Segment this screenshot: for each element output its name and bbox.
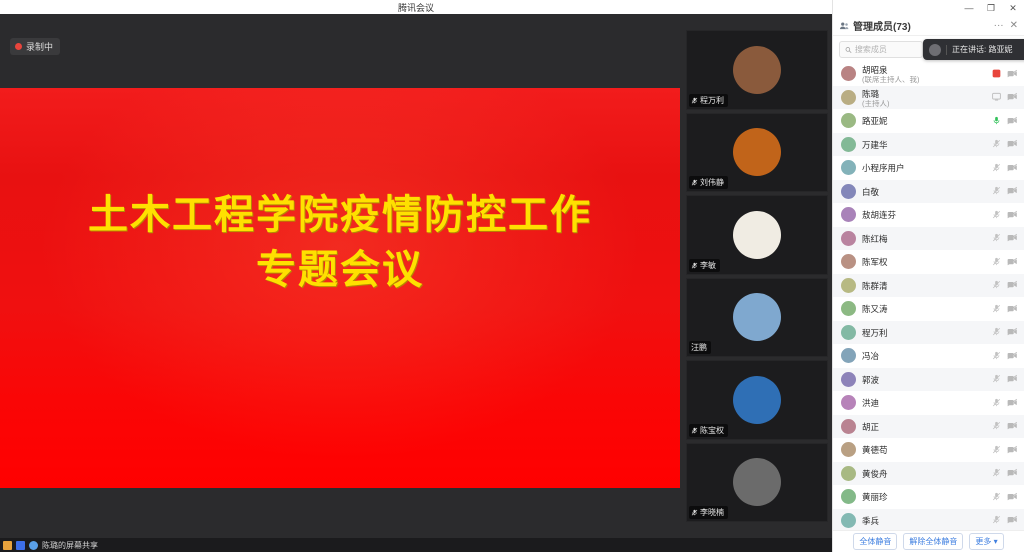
avatar bbox=[841, 137, 856, 152]
camera-off-icon[interactable] bbox=[1007, 69, 1018, 78]
mic-off-icon[interactable] bbox=[691, 178, 698, 187]
member-status-icons bbox=[992, 114, 1018, 128]
member-name: 陈群清 bbox=[862, 281, 888, 291]
camera-status-icon[interactable] bbox=[1007, 466, 1018, 480]
mic-status-icon[interactable] bbox=[992, 513, 1001, 527]
mic-status-icon[interactable] bbox=[992, 490, 1001, 504]
member-status-icons bbox=[992, 466, 1018, 480]
camera-off-icon[interactable] bbox=[1007, 139, 1018, 148]
taskbar-share-icon[interactable] bbox=[29, 541, 38, 550]
members-panel-actions: ··· ✕ bbox=[994, 20, 1018, 31]
member-name: 陈璐 bbox=[862, 89, 879, 99]
member-list-item[interactable]: 陈军权 bbox=[833, 250, 1024, 274]
mic-off-icon bbox=[691, 261, 698, 270]
members-panel: — ❐ ✕ 管理成员(73) ··· ✕ bbox=[832, 0, 1024, 552]
avatar bbox=[841, 348, 856, 363]
member-status-icons bbox=[992, 67, 1018, 81]
camera-status-icon[interactable] bbox=[1007, 325, 1018, 339]
member-list-item[interactable]: 万建华 bbox=[833, 133, 1024, 157]
participant-thumbnail-strip[interactable]: 程万利刘伟静李敏汪鹏陈宝权李晓楠 bbox=[686, 30, 828, 522]
camera-off-icon[interactable] bbox=[1007, 257, 1018, 266]
maximize-button[interactable]: ❐ bbox=[980, 0, 1002, 16]
meeting-window: 腾讯会议 录制中 土木工程学院疫情防控工作 专题会议 2022年9月13日 程万… bbox=[0, 0, 1024, 552]
avatar bbox=[841, 466, 856, 481]
member-info: 冯冶 bbox=[862, 349, 986, 362]
mic-off-icon[interactable] bbox=[992, 186, 1001, 195]
camera-off-icon[interactable] bbox=[1007, 468, 1018, 477]
member-info: 陈璐(主持人) bbox=[862, 87, 986, 108]
avatar bbox=[841, 160, 856, 175]
camera-status-icon[interactable] bbox=[1007, 396, 1018, 410]
thumbnail-name-badge: 程万利 bbox=[689, 94, 728, 107]
speaker-avatar bbox=[929, 44, 941, 56]
member-status-icons bbox=[992, 419, 1018, 433]
speaking-indicator: 正在讲话: 路亚妮 bbox=[923, 39, 1024, 60]
member-list-item[interactable]: 小程序用户 bbox=[833, 156, 1024, 180]
member-list-item[interactable]: 程万利 bbox=[833, 321, 1024, 345]
camera-status-icon[interactable] bbox=[1007, 490, 1018, 504]
mic-off-icon[interactable] bbox=[691, 426, 698, 435]
more-options-icon[interactable]: ··· bbox=[994, 20, 1004, 31]
avatar bbox=[841, 442, 856, 457]
mic-status-icon[interactable] bbox=[992, 90, 1001, 104]
mic-off-icon[interactable] bbox=[691, 96, 698, 105]
avatar bbox=[841, 395, 856, 410]
participant-thumbnail[interactable]: 李晓楠 bbox=[686, 443, 828, 523]
mic-off-icon[interactable] bbox=[992, 468, 1001, 477]
mic-off-icon[interactable] bbox=[992, 515, 1001, 524]
avatar bbox=[841, 113, 856, 128]
member-info: 洪迪 bbox=[862, 396, 986, 409]
member-status-icons bbox=[992, 349, 1018, 363]
member-status-icons bbox=[992, 325, 1018, 339]
camera-status-icon[interactable] bbox=[1007, 443, 1018, 457]
member-status-icons bbox=[992, 90, 1018, 104]
avatar bbox=[841, 231, 856, 246]
search-input[interactable] bbox=[855, 45, 917, 54]
participant-thumbnail[interactable]: 陈宝权 bbox=[686, 360, 828, 440]
member-name: 路亚妮 bbox=[862, 116, 888, 126]
mic-status-icon[interactable] bbox=[992, 184, 1001, 198]
member-status-icons bbox=[992, 161, 1018, 175]
avatar bbox=[841, 325, 856, 340]
taskbar-window-icon[interactable] bbox=[16, 541, 25, 550]
member-name: 万建华 bbox=[862, 140, 888, 150]
member-name: 白敬 bbox=[862, 187, 879, 197]
mic-off-icon[interactable] bbox=[992, 421, 1001, 430]
camera-status-icon[interactable] bbox=[1007, 114, 1018, 128]
participant-thumbnail[interactable]: 李敏 bbox=[686, 195, 828, 275]
avatar bbox=[841, 90, 856, 105]
mic-status-icon[interactable] bbox=[992, 231, 1001, 245]
member-role: (联席主持人、我) bbox=[862, 76, 986, 84]
speaking-label: 正在讲话: 路亚妮 bbox=[952, 44, 1024, 55]
avatar bbox=[841, 184, 856, 199]
camera-status-icon[interactable] bbox=[1007, 90, 1018, 104]
avatar bbox=[841, 301, 856, 316]
member-info: 陈红梅 bbox=[862, 232, 986, 245]
mic-off-icon[interactable] bbox=[992, 210, 1001, 219]
mic-status-icon[interactable] bbox=[992, 137, 1001, 151]
camera-off-icon[interactable] bbox=[1007, 304, 1018, 313]
taskbar-label: 陈璐的屏幕共享 bbox=[42, 540, 98, 551]
avatar bbox=[733, 458, 781, 506]
mic-status-icon[interactable] bbox=[992, 396, 1001, 410]
camera-off-icon[interactable] bbox=[1007, 492, 1018, 501]
speaking-prefix: 正在讲话: bbox=[952, 45, 986, 54]
member-info: 敖胡连芬 bbox=[862, 208, 986, 221]
mic-off-icon bbox=[691, 178, 698, 187]
member-name: 陈军权 bbox=[862, 257, 888, 267]
camera-off-icon[interactable] bbox=[1007, 280, 1018, 289]
member-name: 季兵 bbox=[862, 516, 879, 526]
members-panel-footer: 全体静音 解除全体静音 更多 ▾ bbox=[833, 530, 1024, 552]
camera-status-icon[interactable] bbox=[1007, 302, 1018, 316]
avatar bbox=[841, 419, 856, 434]
camera-off-icon[interactable] bbox=[1007, 445, 1018, 454]
camera-off-icon[interactable] bbox=[1007, 233, 1018, 242]
avatar bbox=[841, 254, 856, 269]
member-list-item[interactable]: 敖胡连芬 bbox=[833, 203, 1024, 227]
members-icon bbox=[839, 21, 849, 31]
camera-off-icon[interactable] bbox=[1007, 163, 1018, 172]
avatar bbox=[841, 278, 856, 293]
camera-status-icon[interactable] bbox=[1007, 231, 1018, 245]
mic-status-icon[interactable] bbox=[992, 466, 1001, 480]
member-list-item[interactable]: 陈群清 bbox=[833, 274, 1024, 298]
mic-status-icon[interactable] bbox=[992, 161, 1001, 175]
app-title: 腾讯会议 bbox=[398, 1, 434, 14]
member-info: 胡正 bbox=[862, 420, 986, 433]
member-status-icons bbox=[992, 208, 1018, 222]
avatar bbox=[733, 128, 781, 176]
member-info: 小程序用户 bbox=[862, 161, 986, 174]
taskbar-app-icon[interactable] bbox=[3, 541, 12, 550]
recording-label: 录制中 bbox=[26, 40, 53, 53]
camera-off-icon[interactable] bbox=[1007, 210, 1018, 219]
search-row: 正在讲话: 路亚妮 bbox=[833, 36, 1024, 62]
mic-off-icon[interactable] bbox=[992, 492, 1001, 501]
mic-on-icon[interactable] bbox=[992, 116, 1001, 125]
thumbnail-name-badge: 刘伟静 bbox=[689, 176, 728, 189]
record-dot-icon bbox=[15, 43, 22, 50]
meeting-stage: 录制中 土木工程学院疫情防控工作 专题会议 2022年9月13日 程万利刘伟静李… bbox=[0, 14, 832, 538]
share-screen-icon[interactable] bbox=[992, 92, 1001, 101]
member-status-icons bbox=[992, 137, 1018, 151]
member-info: 白敬 bbox=[862, 185, 986, 198]
member-list-item[interactable]: 黄德苟 bbox=[833, 438, 1024, 462]
slide-title-line2: 专题会议 bbox=[40, 243, 640, 298]
camera-status-icon[interactable] bbox=[1007, 161, 1018, 175]
camera-off-icon[interactable] bbox=[1007, 515, 1018, 524]
camera-off-icon[interactable] bbox=[1007, 398, 1018, 407]
avatar bbox=[733, 46, 781, 94]
mic-off-icon[interactable] bbox=[992, 445, 1001, 454]
member-status-icons bbox=[992, 490, 1018, 504]
slide-title-line1: 土木工程学院疫情防控工作 bbox=[40, 188, 640, 243]
member-info: 黄俊舟 bbox=[862, 467, 986, 480]
avatar bbox=[841, 207, 856, 222]
camera-status-icon[interactable] bbox=[1007, 513, 1018, 527]
member-name: 胡昭泉 bbox=[862, 65, 888, 75]
member-status-icons bbox=[992, 513, 1018, 527]
mic-off-icon[interactable] bbox=[992, 257, 1001, 266]
member-info: 胡昭泉(联席主持人、我) bbox=[862, 63, 986, 84]
participant-name: 汪鹏 bbox=[691, 342, 707, 353]
mic-off-icon[interactable] bbox=[992, 233, 1001, 242]
member-status-icons bbox=[992, 278, 1018, 292]
camera-off-icon[interactable] bbox=[1007, 374, 1018, 383]
participant-name: 陈宝权 bbox=[700, 425, 724, 436]
mic-off-icon[interactable] bbox=[992, 280, 1001, 289]
member-name: 程万利 bbox=[862, 328, 888, 338]
slide-title: 土木工程学院疫情防控工作 专题会议 bbox=[40, 188, 640, 298]
window-controls: — ❐ ✕ bbox=[833, 0, 1024, 16]
member-info: 路亚妮 bbox=[862, 114, 986, 127]
member-list-item[interactable]: 路亚妮 bbox=[833, 109, 1024, 133]
search-box[interactable] bbox=[839, 41, 923, 58]
mic-off-icon[interactable] bbox=[992, 163, 1001, 172]
member-name: 黄俊舟 bbox=[862, 469, 888, 479]
close-button[interactable]: ✕ bbox=[1002, 0, 1024, 16]
mic-status-icon[interactable] bbox=[992, 349, 1001, 363]
member-name: 黄德苟 bbox=[862, 445, 888, 455]
member-name: 陈红梅 bbox=[862, 234, 888, 244]
member-info: 陈又涛 bbox=[862, 302, 986, 315]
mute-all-button[interactable]: 全体静音 bbox=[853, 533, 897, 550]
camera-status-icon[interactable] bbox=[1007, 349, 1018, 363]
unmute-all-button[interactable]: 解除全体静音 bbox=[903, 533, 963, 550]
members-panel-header: 管理成员(73) ··· ✕ bbox=[833, 16, 1024, 36]
thumbnail-name-badge: 李晓楠 bbox=[689, 506, 728, 519]
mic-off-icon[interactable] bbox=[992, 304, 1001, 313]
camera-status-icon[interactable] bbox=[1007, 137, 1018, 151]
panel-close-icon[interactable]: ✕ bbox=[1010, 20, 1018, 31]
thumbnail-name-badge: 陈宝权 bbox=[689, 424, 728, 437]
mic-off-icon[interactable] bbox=[691, 508, 698, 517]
mic-off-icon[interactable] bbox=[992, 351, 1001, 360]
divider bbox=[946, 45, 947, 55]
member-info: 郭波 bbox=[862, 373, 986, 386]
search-icon bbox=[845, 46, 852, 54]
member-name: 胡正 bbox=[862, 422, 879, 432]
mic-off-icon[interactable] bbox=[992, 374, 1001, 383]
mic-off-icon bbox=[691, 96, 698, 105]
camera-status-icon[interactable] bbox=[1007, 255, 1018, 269]
more-button[interactable]: 更多 ▾ bbox=[969, 533, 1003, 550]
member-info: 陈军权 bbox=[862, 255, 986, 268]
mic-status-icon[interactable] bbox=[992, 419, 1001, 433]
camera-off-icon[interactable] bbox=[1007, 327, 1018, 336]
recording-badge: 录制中 bbox=[10, 38, 60, 55]
camera-off-icon[interactable] bbox=[1007, 421, 1018, 430]
participant-thumbnail[interactable]: 汪鹏 bbox=[686, 278, 828, 358]
member-list-item[interactable]: 冯冶 bbox=[833, 344, 1024, 368]
camera-status-icon[interactable] bbox=[1007, 184, 1018, 198]
member-list-item[interactable]: 陈璐(主持人) bbox=[833, 86, 1024, 110]
avatar bbox=[733, 211, 781, 259]
camera-off-icon[interactable] bbox=[1007, 351, 1018, 360]
member-list-item[interactable]: 陈红梅 bbox=[833, 227, 1024, 251]
member-info: 黄丽珍 bbox=[862, 490, 986, 503]
member-list-item[interactable]: 胡正 bbox=[833, 415, 1024, 439]
minimize-button[interactable]: — bbox=[958, 0, 980, 16]
members-panel-title: 管理成员(73) bbox=[853, 18, 990, 33]
mic-off-icon[interactable] bbox=[992, 139, 1001, 148]
member-list-item[interactable]: 陈又涛 bbox=[833, 297, 1024, 321]
avatar bbox=[841, 489, 856, 504]
camera-status-icon[interactable] bbox=[1007, 419, 1018, 433]
mic-status-icon[interactable] bbox=[992, 302, 1001, 316]
member-status-icons bbox=[992, 372, 1018, 386]
member-name: 黄丽珍 bbox=[862, 492, 888, 502]
member-status-icons bbox=[992, 302, 1018, 316]
taskbar[interactable]: 陈璐的屏幕共享 bbox=[0, 538, 832, 552]
member-name: 冯冶 bbox=[862, 351, 879, 361]
member-name: 郭波 bbox=[862, 375, 879, 385]
members-list[interactable]: 胡昭泉(联席主持人、我)陈璐(主持人)路亚妮万建华小程序用户白敬敖胡连芬陈红梅陈… bbox=[833, 62, 1024, 530]
participant-name: 程万利 bbox=[700, 95, 724, 106]
avatar bbox=[733, 376, 781, 424]
member-name: 洪迪 bbox=[862, 398, 879, 408]
mic-status-icon[interactable] bbox=[992, 278, 1001, 292]
mic-status-icon[interactable] bbox=[992, 443, 1001, 457]
member-list-item[interactable]: 季兵 bbox=[833, 509, 1024, 531]
speaking-name: 路亚妮 bbox=[988, 45, 1012, 54]
member-status-icons bbox=[992, 184, 1018, 198]
member-list-item[interactable]: 郭波 bbox=[833, 368, 1024, 392]
thumbnail-name-badge: 李敏 bbox=[689, 259, 720, 272]
member-role: (主持人) bbox=[862, 100, 986, 108]
member-list-item[interactable]: 洪迪 bbox=[833, 391, 1024, 415]
mic-status-icon[interactable] bbox=[992, 372, 1001, 386]
participant-name: 李晓楠 bbox=[700, 507, 724, 518]
member-list-item[interactable]: 黄丽珍 bbox=[833, 485, 1024, 509]
mic-status-icon[interactable] bbox=[992, 114, 1001, 128]
thumbnail-name-badge: 汪鹏 bbox=[689, 341, 711, 354]
camera-off-icon[interactable] bbox=[1007, 116, 1018, 125]
avatar bbox=[841, 372, 856, 387]
member-status-icons bbox=[992, 396, 1018, 410]
avatar bbox=[841, 513, 856, 528]
member-name: 小程序用户 bbox=[862, 163, 905, 173]
member-list-item[interactable]: 黄俊舟 bbox=[833, 462, 1024, 486]
member-list-item[interactable]: 胡昭泉(联席主持人、我) bbox=[833, 62, 1024, 86]
member-name: 敖胡连芬 bbox=[862, 210, 896, 220]
window-titlebar: 腾讯会议 bbox=[0, 0, 832, 14]
member-info: 程万利 bbox=[862, 326, 986, 339]
mic-off-icon[interactable] bbox=[691, 261, 698, 270]
member-info: 陈群清 bbox=[862, 279, 986, 292]
member-status-icons bbox=[992, 443, 1018, 457]
member-list-item[interactable]: 白敬 bbox=[833, 180, 1024, 204]
mic-off-icon[interactable] bbox=[992, 398, 1001, 407]
mic-off-icon[interactable] bbox=[992, 327, 1001, 336]
shared-slide[interactable]: 土木工程学院疫情防控工作 专题会议 2022年9月13日 bbox=[0, 88, 680, 488]
mic-off-icon bbox=[691, 508, 698, 517]
avatar bbox=[733, 293, 781, 341]
member-info: 黄德苟 bbox=[862, 443, 986, 456]
camera-status-icon[interactable] bbox=[1007, 67, 1018, 81]
record-icon[interactable] bbox=[992, 69, 1001, 78]
participant-thumbnail[interactable]: 程万利 bbox=[686, 30, 828, 110]
member-info: 季兵 bbox=[862, 514, 986, 527]
camera-off-icon[interactable] bbox=[1007, 186, 1018, 195]
camera-off-icon[interactable] bbox=[1007, 92, 1018, 101]
member-name: 陈又涛 bbox=[862, 304, 888, 314]
camera-status-icon[interactable] bbox=[1007, 278, 1018, 292]
participant-name: 刘伟静 bbox=[700, 177, 724, 188]
participant-name: 李敏 bbox=[700, 260, 716, 271]
mic-status-icon[interactable] bbox=[992, 208, 1001, 222]
mic-status-icon[interactable] bbox=[992, 67, 1001, 81]
camera-status-icon[interactable] bbox=[1007, 372, 1018, 386]
mic-status-icon[interactable] bbox=[992, 325, 1001, 339]
member-info: 万建华 bbox=[862, 138, 986, 151]
participant-thumbnail[interactable]: 刘伟静 bbox=[686, 113, 828, 193]
camera-status-icon[interactable] bbox=[1007, 208, 1018, 222]
member-status-icons bbox=[992, 231, 1018, 245]
mic-off-icon bbox=[691, 426, 698, 435]
mic-status-icon[interactable] bbox=[992, 255, 1001, 269]
avatar bbox=[841, 66, 856, 81]
member-status-icons bbox=[992, 255, 1018, 269]
